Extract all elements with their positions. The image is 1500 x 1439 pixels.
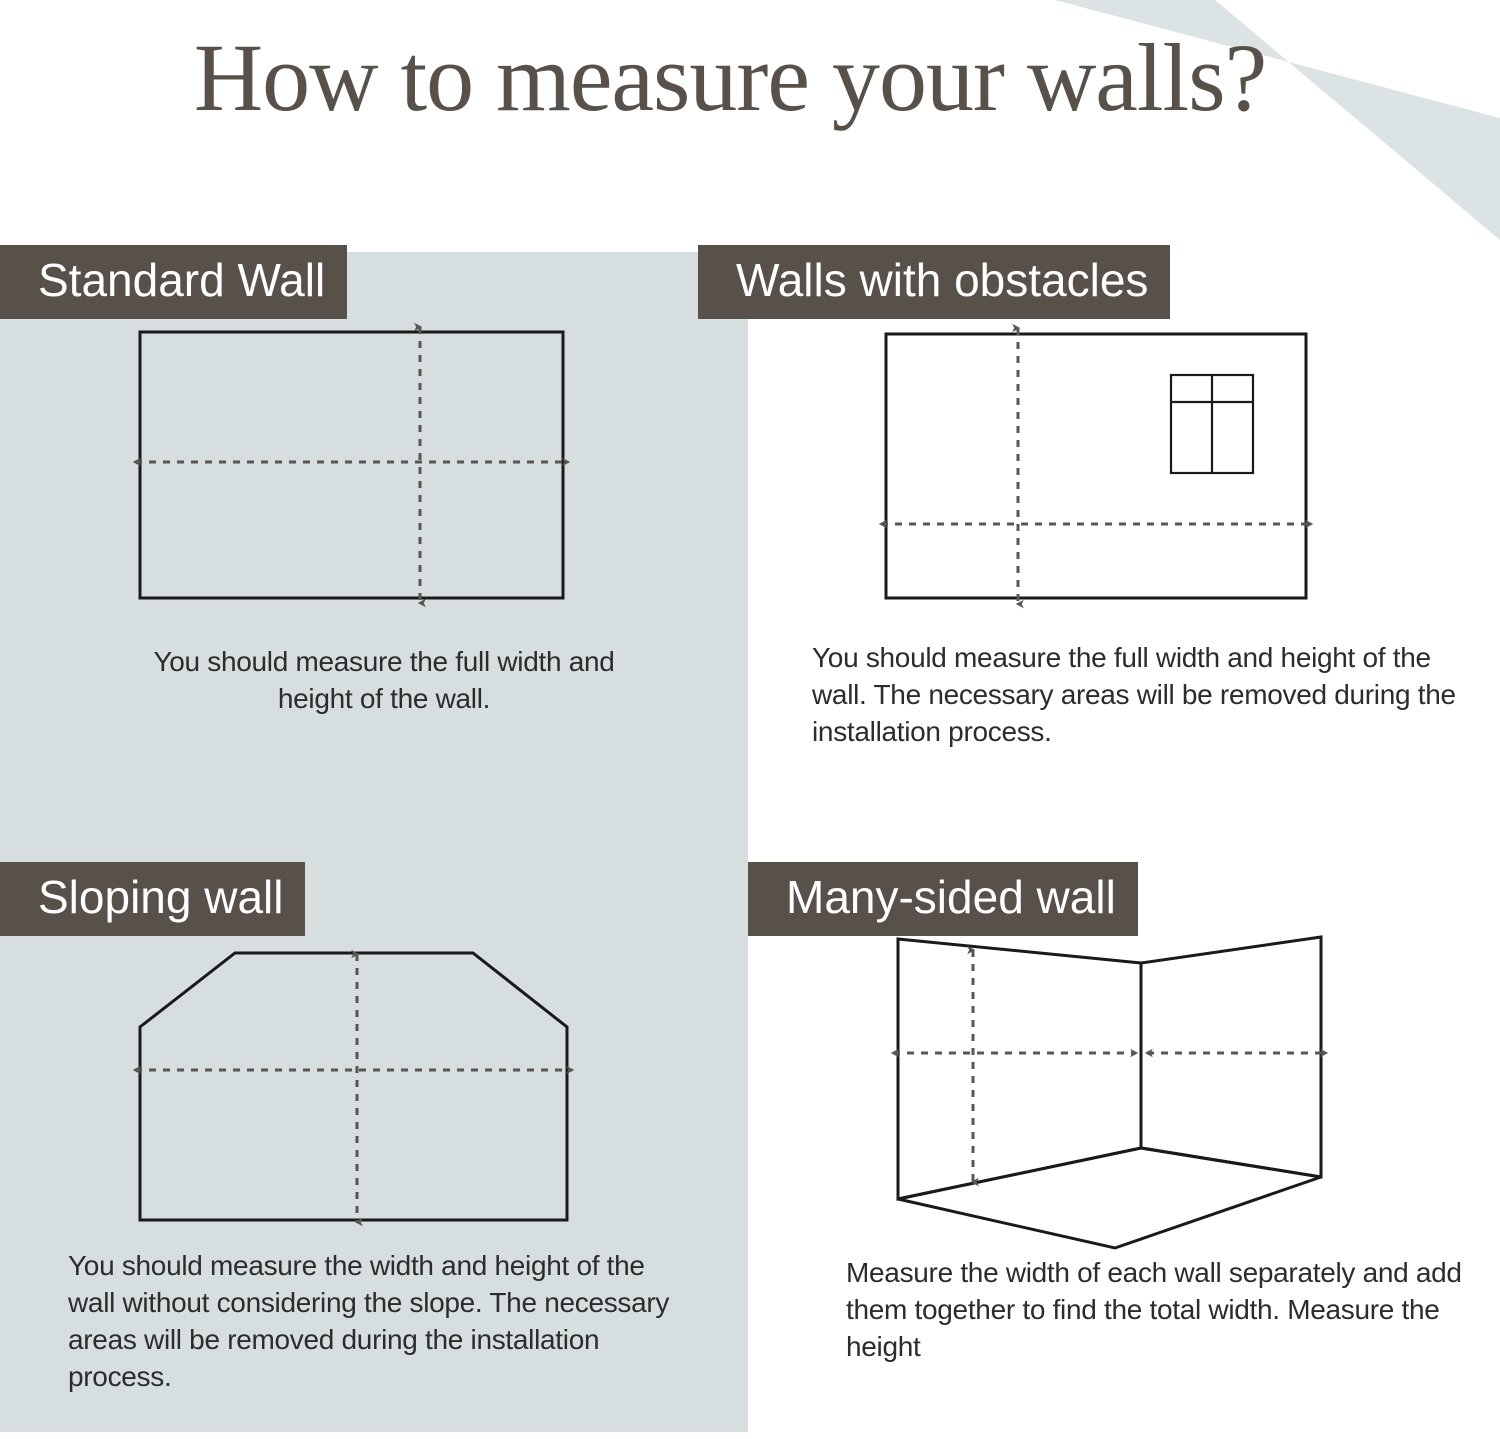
diagram-standard-wall [110,315,590,615]
window-icon [1171,375,1253,473]
wall-outline [140,332,563,598]
section-header-standard-wall: Standard Wall [0,245,347,319]
diagram-many-sided-wall [860,915,1350,1265]
diagram-walls-with-obstacles [860,315,1340,615]
floor-outline [898,1148,1321,1248]
caption-standard-wall: You should measure the full width and he… [124,644,644,718]
left-wall-outline [898,939,1141,1199]
caption-walls-with-obstacles: You should measure the full width and he… [812,640,1472,751]
infographic-page: How to measure your walls? Standard Wall… [0,0,1500,1439]
right-wall-outline [1141,937,1321,1177]
caption-many-sided-wall: Measure the width of each wall separatel… [846,1255,1476,1366]
diagram-sloping-wall [110,930,610,1240]
wall-outline [886,334,1306,598]
wall-outline [140,953,567,1220]
page-title: How to measure your walls? [0,28,1460,129]
section-header-walls-with-obstacles: Walls with obstacles [698,245,1170,319]
caption-sloping-wall: You should measure the width and height … [68,1248,688,1396]
section-header-sloping-wall: Sloping wall [0,862,305,936]
